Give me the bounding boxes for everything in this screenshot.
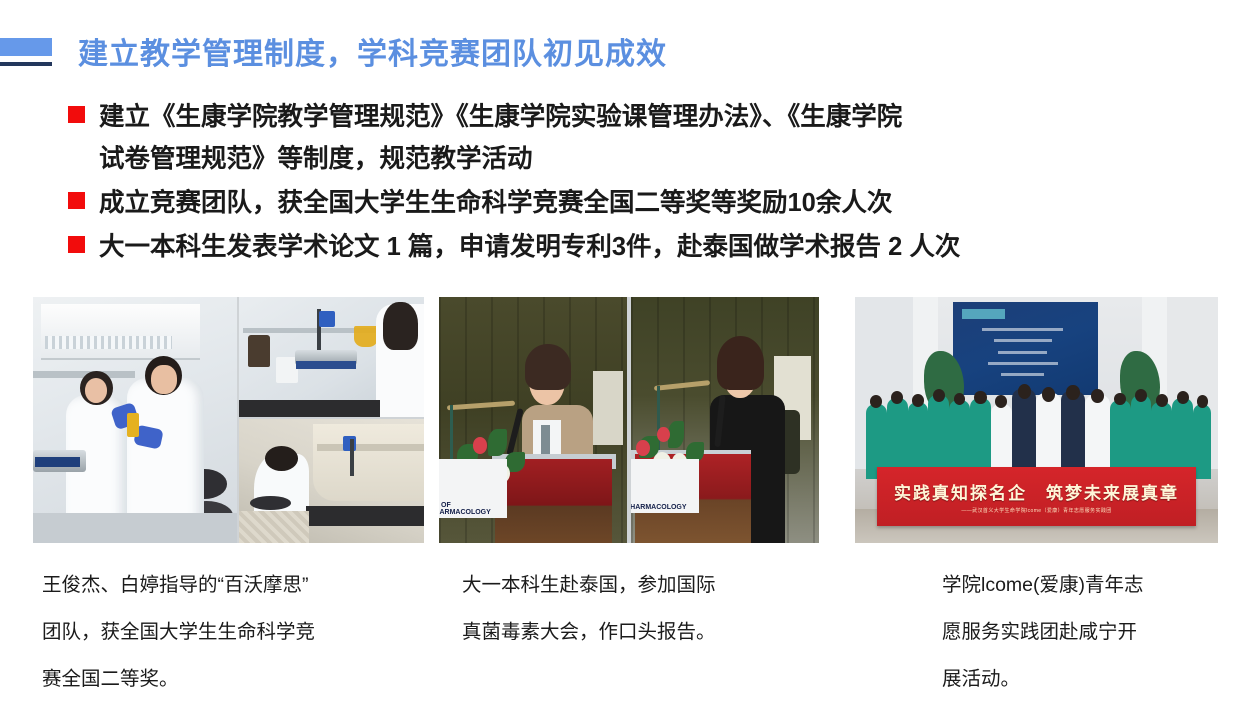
podium-sign-left: NT OF PHARMACOLOGY — [439, 459, 507, 518]
photo-volunteer-group: 实践真知探名企 筑梦未来展真章 ——武汉首义大学生命学院lcome（爱康）青年志… — [855, 297, 1218, 543]
page-title: 建立教学管理制度，学科竞赛团队初见成效 — [78, 26, 667, 84]
bullet-line: 大一本科生发表学术论文 1 篇，申请发明专利3件，赴泰国做学术报告 2 人次 — [99, 226, 1228, 268]
bullet-square-icon — [68, 192, 85, 209]
caption-line: 学院lcome(爱康)青年志 — [942, 562, 1242, 609]
title-marker-underline — [0, 62, 52, 66]
title-marker-bar — [0, 38, 52, 56]
photo-conference-talks: NT OF PHARMACOLOGY — [439, 297, 819, 543]
photo-strip: NT OF PHARMACOLOGY — [33, 297, 1218, 543]
bullet-item-3: 大一本科生发表学术论文 1 篇，申请发明专利3件，赴泰国做学术报告 2 人次 — [68, 226, 1228, 268]
bullet-text-2: 成立竞赛团队，获全国大学生生命科学竞赛全国二等奖等奖励10余人次 — [99, 182, 1228, 224]
photo-sub-talk-right: PHARMACOLOGY — [631, 297, 819, 543]
photo-lab-collage — [33, 297, 424, 543]
caption-line: 王俊杰、白婷指导的“百沃摩思” — [42, 562, 442, 609]
caption-line: 团队，获全国大学生生命科学竞 — [42, 609, 442, 656]
event-banner: 实践真知探名企 筑梦未来展真章 ——武汉首义大学生命学院lcome（爱康）青年志… — [877, 467, 1196, 526]
bullet-square-icon — [68, 236, 85, 253]
bullet-item-1: 建立《生康学院教学管理规范》《生康学院实验课管理办法》、《生康学院 试卷管理规范… — [68, 96, 1228, 180]
caption-line: 展活动。 — [942, 656, 1242, 703]
photo-caption-3: 学院lcome(爱康)青年志 愿服务实践团赴咸宁开 展活动。 — [942, 562, 1242, 703]
banner-sub-text: ——武汉首义大学生命学院lcome（爱康）青年志愿服务实践团 — [961, 507, 1111, 514]
photo-caption-1: 王俊杰、白婷指导的“百沃摩思” 团队，获全国大学生生命科学竞 赛全国二等奖。 — [42, 562, 442, 703]
photo-sub-lab-pair — [33, 297, 237, 543]
photo-sub-talk-left: NT OF PHARMACOLOGY — [439, 297, 627, 543]
bullet-line: 建立《生康学院教学管理规范》《生康学院实验课管理办法》、《生康学院 — [99, 96, 1228, 138]
photo-sub-fumehood — [239, 419, 424, 543]
bullet-square-icon — [68, 106, 85, 123]
slide-header: 建立教学管理制度，学科竞赛团队初见成效 — [0, 26, 1250, 86]
bullet-line: 试卷管理规范》等制度，规范教学活动 — [99, 138, 1228, 180]
bullet-list: 建立《生康学院教学管理规范》《生康学院实验课管理办法》、《生康学院 试卷管理规范… — [68, 96, 1228, 270]
bullet-text-3: 大一本科生发表学术论文 1 篇，申请发明专利3件，赴泰国做学术报告 2 人次 — [99, 226, 1228, 268]
group-members — [862, 366, 1210, 479]
caption-line: 愿服务实践团赴咸宁开 — [942, 609, 1242, 656]
bullet-item-2: 成立竞赛团队，获全国大学生生命科学竞赛全国二等奖等奖励10余人次 — [68, 182, 1228, 224]
banner-main-text: 实践真知探名企 筑梦未来展真章 — [894, 479, 1179, 504]
caption-line: 真菌毒素大会，作口头报告。 — [462, 609, 862, 656]
caption-line: 赛全国二等奖。 — [42, 656, 442, 703]
podium-sign-right: PHARMACOLOGY — [631, 459, 699, 513]
caption-line: 大一本科生赴泰国，参加国际 — [462, 562, 862, 609]
photo-sub-flask — [239, 297, 424, 417]
photo-caption-2: 大一本科生赴泰国，参加国际 真菌毒素大会，作口头报告。 — [462, 562, 862, 656]
bullet-line: 成立竞赛团队，获全国大学生生命科学竞赛全国二等奖等奖励10余人次 — [99, 182, 1228, 224]
bullet-text-1: 建立《生康学院教学管理规范》《生康学院实验课管理办法》、《生康学院 试卷管理规范… — [99, 96, 1228, 180]
